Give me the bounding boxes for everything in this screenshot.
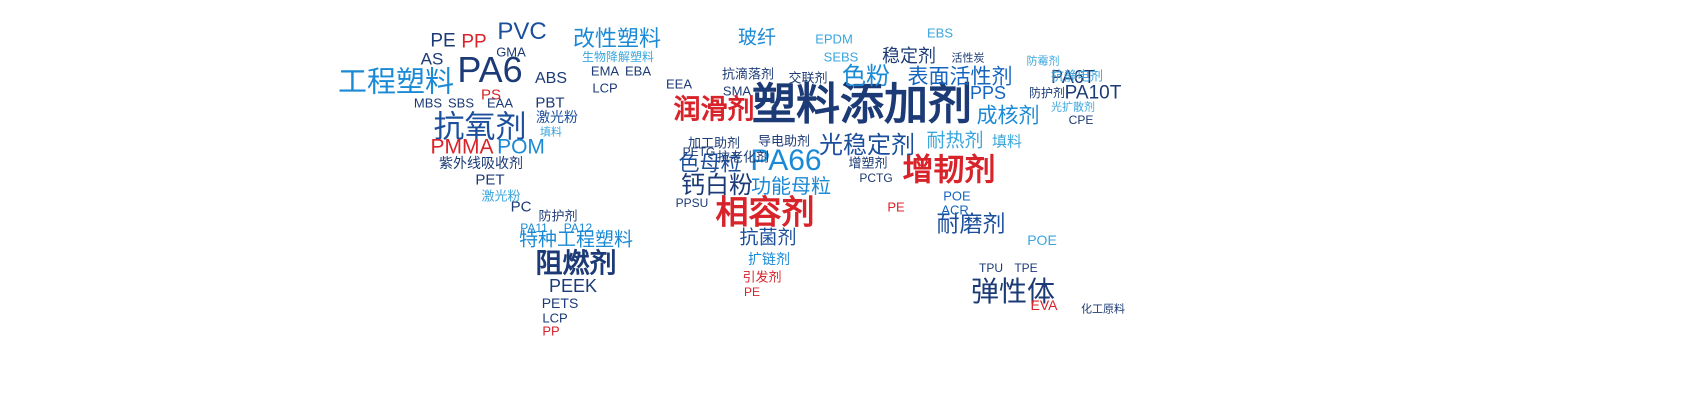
cloud-word[interactable]: PET <box>475 173 504 188</box>
cloud-word[interactable]: PEEK <box>549 277 597 295</box>
cloud-word[interactable]: 色粉 <box>842 65 890 89</box>
cloud-word[interactable]: SBS <box>448 97 474 110</box>
cloud-word[interactable]: PPS <box>970 84 1006 102</box>
cloud-word[interactable]: 活性炭 <box>952 54 985 65</box>
cloud-word[interactable]: 交联剂 <box>788 72 827 85</box>
cloud-word[interactable]: 光扩散剂 <box>1051 103 1095 114</box>
cloud-word[interactable]: ABS <box>535 71 567 87</box>
cloud-word[interactable]: LCP <box>592 82 617 95</box>
cloud-word[interactable]: 玻纤 <box>738 29 776 48</box>
word-cloud-canvas: 塑料添加剂工程塑料抗氧剂相容剂增韧剂润滑剂阻燃剂PA6PA66弹性体光稳定剂表面… <box>0 0 1707 400</box>
cloud-word[interactable]: GMA <box>496 46 526 59</box>
cloud-word[interactable]: AS <box>421 51 444 68</box>
cloud-word[interactable]: 化工原料 <box>1081 305 1125 316</box>
cloud-word[interactable]: 防霉剂 <box>1027 57 1060 68</box>
cloud-word[interactable]: CPE <box>1069 114 1094 126</box>
cloud-word[interactable]: PA12 <box>564 222 592 234</box>
cloud-word[interactable]: 阻燃剂 <box>536 251 617 278</box>
cloud-word[interactable]: PC <box>511 200 532 215</box>
cloud-word[interactable]: SEBS <box>824 51 859 64</box>
cloud-word[interactable]: PE <box>887 201 904 214</box>
cloud-word[interactable]: 引发剂 <box>742 271 781 284</box>
cloud-word[interactable]: 相容剂 <box>716 196 815 229</box>
cloud-word[interactable]: EBS <box>927 27 953 40</box>
cloud-word[interactable]: 功能母粒 <box>751 177 831 197</box>
cloud-word[interactable]: SMA <box>723 85 751 98</box>
cloud-word[interactable]: 工程塑料 <box>338 69 454 98</box>
cloud-word[interactable]: PA11 <box>520 222 548 234</box>
cloud-word[interactable]: PCTG <box>859 172 892 184</box>
cloud-word[interactable]: 紫外线吸收剂 <box>439 156 523 170</box>
cloud-word[interactable]: 导电助剂 <box>758 135 810 148</box>
cloud-word[interactable]: POE <box>943 190 970 203</box>
cloud-word[interactable]: 扩链剂 <box>748 252 790 266</box>
cloud-word[interactable]: 填料 <box>992 135 1022 150</box>
cloud-word[interactable]: 钙白粉 <box>681 174 753 198</box>
cloud-word[interactable]: POE <box>1027 233 1057 247</box>
cloud-word[interactable]: 耐热剂 <box>926 132 983 151</box>
cloud-word[interactable]: PP <box>461 33 486 52</box>
cloud-word[interactable]: PETS <box>542 296 579 310</box>
cloud-word[interactable]: TPU <box>979 262 1003 274</box>
cloud-word[interactable]: PETG <box>683 146 716 158</box>
cloud-word[interactable]: PE <box>744 286 760 298</box>
cloud-word[interactable]: 光稳定剂 <box>819 134 915 158</box>
cloud-word[interactable]: EAA <box>487 97 513 110</box>
cloud-word[interactable]: EMA <box>591 65 619 78</box>
cloud-word[interactable]: 激光粉 <box>536 110 578 124</box>
cloud-word[interactable]: PP <box>542 325 559 338</box>
cloud-word[interactable]: PVC <box>497 20 546 44</box>
cloud-word[interactable]: 防护剂 <box>1029 87 1065 99</box>
cloud-word[interactable]: 增韧剂 <box>903 155 996 186</box>
cloud-word[interactable]: MBS <box>414 97 442 110</box>
cloud-word[interactable]: PE <box>430 32 455 51</box>
cloud-word[interactable]: 抗静电剂 <box>1051 70 1103 83</box>
cloud-word[interactable]: EBA <box>625 65 651 78</box>
cloud-word[interactable]: ACR <box>941 204 968 217</box>
cloud-word[interactable]: PPSU <box>676 197 709 209</box>
cloud-word[interactable]: 抗滴落剂 <box>722 68 774 81</box>
cloud-word[interactable]: 增塑剂 <box>848 157 887 170</box>
cloud-word[interactable]: 润滑剂 <box>674 97 755 124</box>
cloud-word[interactable]: 填料 <box>540 128 562 139</box>
cloud-word[interactable]: 稳定剂 <box>882 47 936 65</box>
cloud-word[interactable]: 生物降解塑料 <box>582 51 654 63</box>
cloud-word[interactable]: 抗老化剂 <box>717 151 769 164</box>
cloud-word[interactable]: 改性塑料 <box>573 28 661 50</box>
cloud-word[interactable]: EVA <box>1031 298 1058 312</box>
cloud-word[interactable]: 抗菌剂 <box>739 229 796 248</box>
cloud-word[interactable]: EPDM <box>815 33 853 46</box>
cloud-word[interactable]: 成核剂 <box>977 106 1040 127</box>
cloud-word[interactable]: EEA <box>666 78 692 91</box>
cloud-word[interactable]: TPE <box>1014 262 1037 274</box>
